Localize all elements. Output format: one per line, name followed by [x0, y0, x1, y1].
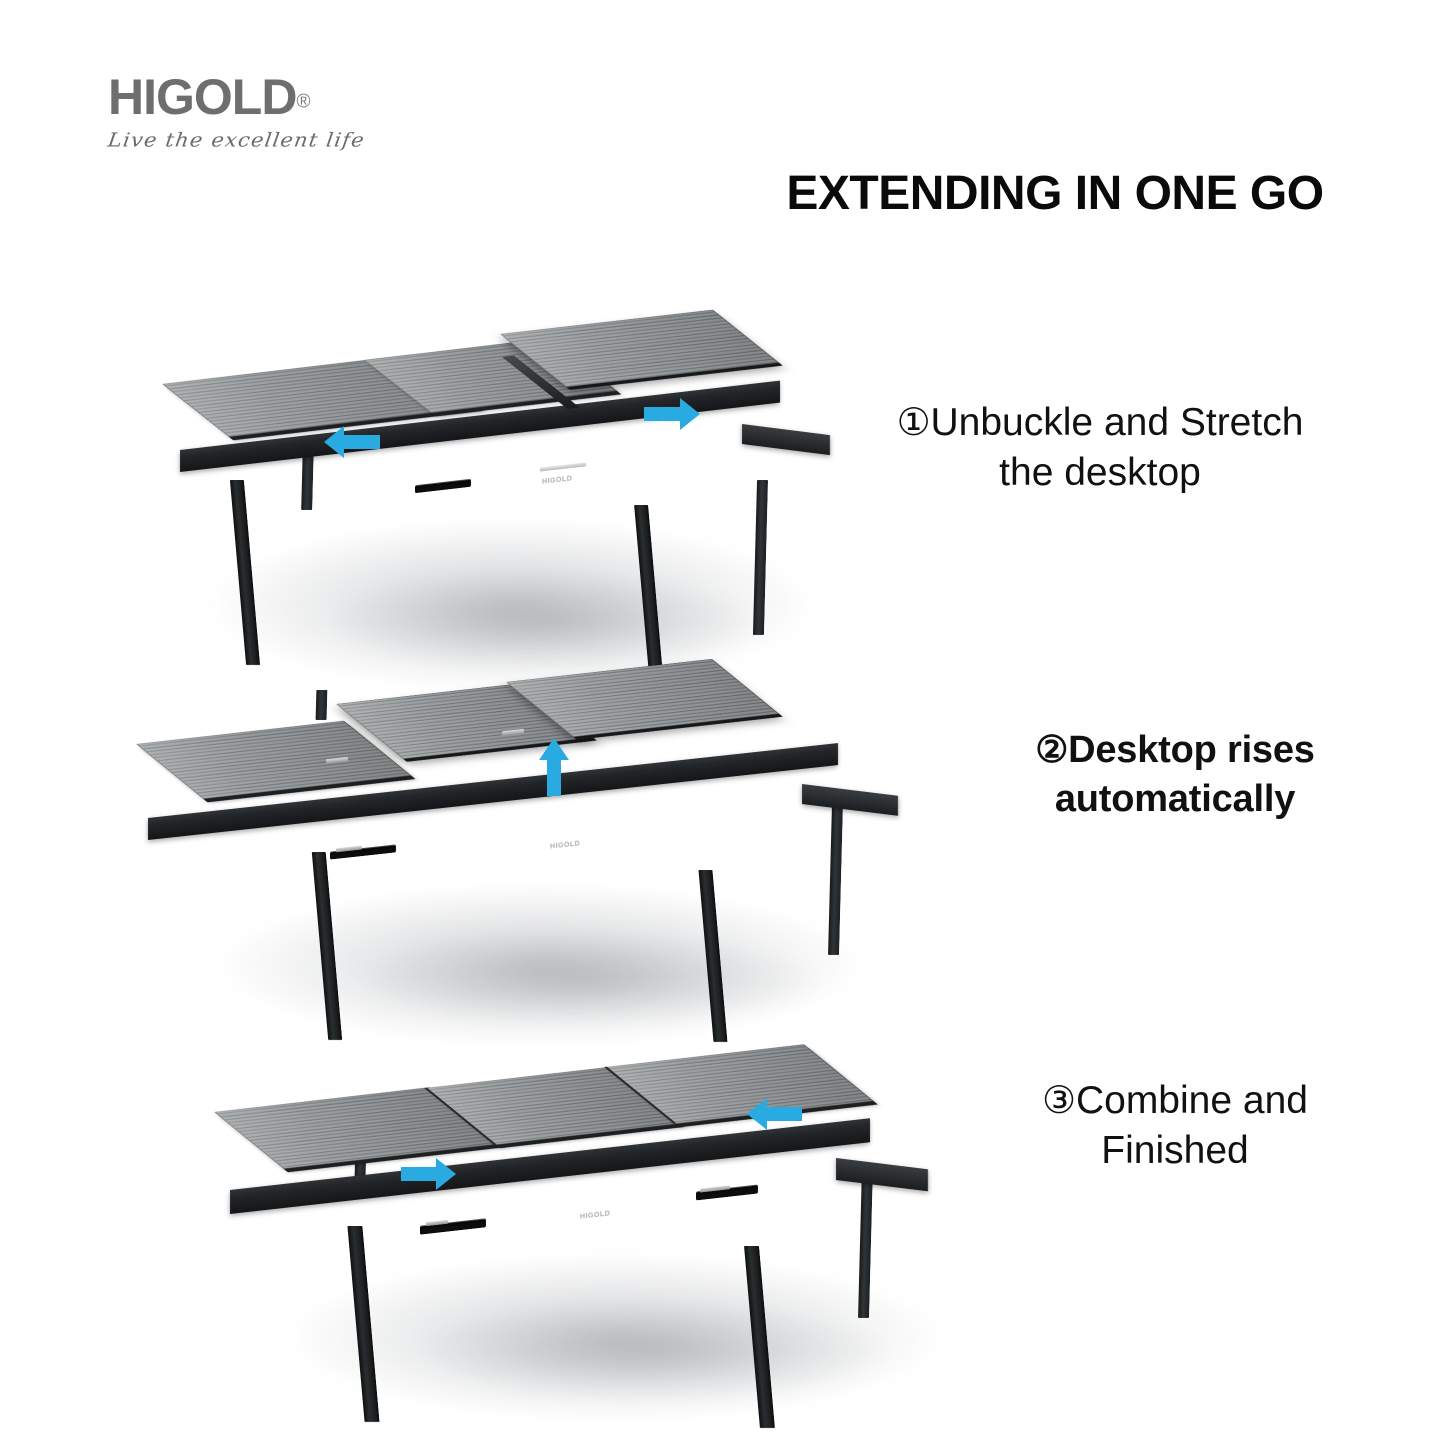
apron-brand-badge: HIGOLD: [550, 840, 580, 850]
brand-wordmark: HIGOLD: [108, 72, 296, 122]
product-figure-step-2: HIGOLD: [130, 690, 950, 1040]
table-leg-far-right: [858, 1168, 873, 1318]
floor-shadow-soft: [420, 1305, 890, 1400]
registered-trademark-icon: ®: [296, 92, 310, 113]
page-title: EXTENDING IN ONE GO: [725, 168, 1385, 221]
step-text-2-line1: Desktop rises: [1068, 729, 1315, 771]
table-apron-right: [742, 424, 830, 455]
table-leg-near-left: [230, 480, 260, 665]
step-number-1: ①: [897, 402, 931, 444]
step-caption-2: ②Desktop rises automatically: [1000, 726, 1350, 823]
step-text-2-line2: automatically: [1055, 778, 1295, 820]
table-apron-right: [836, 1158, 928, 1191]
rail-slot-left: [415, 479, 471, 493]
floor-shadow-soft: [330, 575, 760, 670]
table-leg-near-right: [744, 1246, 775, 1428]
product-figure-step-1: HIGOLD: [150, 360, 850, 700]
brand-logo: HIGOLD® Live the excellent life: [108, 72, 365, 152]
step-text-1-line1: Unbuckle and Stretch: [931, 401, 1304, 444]
apron-brand-badge: HIGOLD: [542, 475, 572, 485]
rail-slot-left: [330, 844, 396, 859]
apron-brand-badge: HIGOLD: [580, 1210, 610, 1220]
brand-tagline: Live the excellent life: [106, 129, 366, 151]
step-text-3-line2: Finished: [1101, 1129, 1248, 1172]
step-number-2: ②: [1035, 729, 1068, 770]
table-leg-near-left: [312, 852, 342, 1040]
floor-shadow: [290, 1255, 940, 1420]
table-apron-right: [802, 784, 898, 816]
rail-slot-right: [540, 462, 586, 471]
table-leg-near-right: [634, 505, 664, 685]
step-caption-3: ③Combine and Finished: [1000, 1076, 1350, 1176]
step-text-1-line2: the desktop: [999, 451, 1201, 494]
table-leg-far-right: [753, 480, 768, 635]
table-leg-near-right: [698, 870, 727, 1042]
table-leg-far-left: [316, 690, 328, 720]
step-number-3: ③: [1042, 1080, 1076, 1122]
table-leg-far-right: [828, 805, 843, 955]
step-caption-1: ①Unbuckle and Stretch the desktop: [850, 398, 1350, 498]
product-figure-step-3: HIGOLD: [200, 1040, 1000, 1420]
brand-wordmark-row: HIGOLD®: [108, 72, 365, 122]
step-text-3-line1: Combine and: [1076, 1079, 1308, 1122]
floor-shadow-soft: [360, 935, 820, 1025]
table-leg-near-left: [347, 1226, 379, 1422]
